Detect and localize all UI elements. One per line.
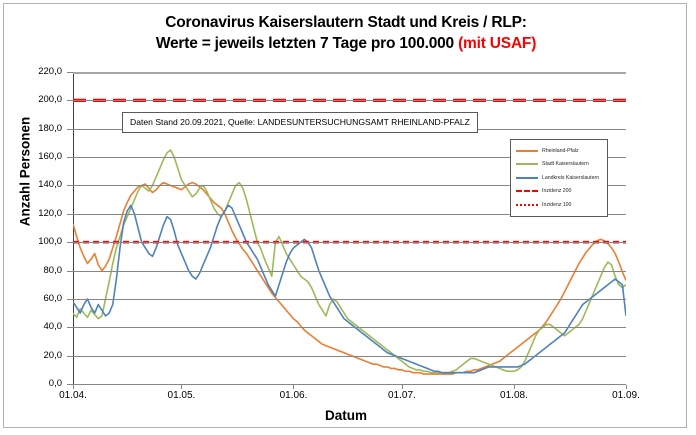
y-axis-tick-label: 0,0	[10, 378, 62, 389]
x-axis-tick-label: 01.08.	[484, 390, 544, 401]
gridline	[73, 271, 626, 272]
y-axis-tick-label: 140,0	[10, 179, 62, 190]
x-axis-tick	[514, 385, 515, 389]
gridline	[73, 327, 626, 328]
legend-swatch	[516, 190, 538, 192]
gridline	[73, 72, 626, 74]
x-axis-tick-label: 01.07.	[372, 390, 432, 401]
x-axis-tick	[402, 385, 403, 389]
x-axis-tick	[73, 385, 74, 389]
y-axis-tick	[67, 72, 73, 73]
y-axis-tick-label: 160,0	[10, 151, 62, 162]
legend-item[interactable]: Stadt Kaiserslautern	[514, 158, 604, 172]
gridline	[73, 242, 626, 243]
x-axis-tick	[626, 385, 627, 389]
legend-item[interactable]: Inzidenz 200	[514, 185, 604, 199]
x-axis-tick-label: 01.06.	[263, 390, 323, 401]
y-axis-tick-label: 100,0	[10, 236, 62, 247]
y-axis-tick-label: 200,0	[10, 94, 62, 105]
legend-swatch	[516, 204, 538, 206]
x-axis-tick-label: 01.05.	[151, 390, 211, 401]
legend-item[interactable]: Inzidenz 100	[514, 198, 604, 212]
legend-swatch	[516, 177, 538, 179]
legend-swatch	[516, 163, 538, 165]
y-axis-tick-label: 40,0	[10, 321, 62, 332]
x-axis-tick-label: 01.04.	[43, 390, 103, 401]
y-axis-tick	[67, 185, 73, 186]
legend-label: Inzidenz 100	[542, 202, 571, 208]
y-axis-tick	[67, 271, 73, 272]
chart-title-line1: Coronavirus Kaiserslautern Stadt und Kre…	[4, 13, 688, 33]
gridline	[73, 100, 626, 101]
y-axis-tick-label: 220,0	[10, 66, 62, 77]
x-axis-title: Datum	[4, 408, 688, 423]
gridline	[73, 356, 626, 357]
y-axis-tick	[67, 356, 73, 357]
legend-label: Inzidenz 200	[542, 188, 571, 194]
chart-title-line2-black: Werte = jeweils letzten 7 Tage pro 100.0…	[156, 35, 458, 52]
gridline	[73, 299, 626, 300]
series-line-landkreis-kaiserslautern	[73, 205, 626, 372]
x-axis-tick	[181, 385, 182, 389]
gridline	[73, 384, 626, 385]
legend-label: Rheinland-Pfalz	[542, 148, 579, 154]
y-axis-tick	[67, 214, 73, 215]
chart-title-line2: Werte = jeweils letzten 7 Tage pro 100.0…	[4, 34, 688, 54]
y-axis-tick	[67, 157, 73, 158]
y-axis-tick-label: 60,0	[10, 293, 62, 304]
y-axis-tick-label: 120,0	[10, 208, 62, 219]
y-axis-tick	[67, 299, 73, 300]
legend-label: Landkreis Kaiserslautern	[542, 175, 599, 181]
legend-label: Stadt Kaiserslautern	[542, 161, 589, 167]
legend-item[interactable]: Landkreis Kaiserslautern	[514, 171, 604, 185]
chart-title: Coronavirus Kaiserslautern Stadt und Kre…	[4, 13, 688, 54]
chart-legend: Rheinland-PfalzStadt KaiserslauternLandk…	[510, 139, 608, 217]
y-axis-tick	[67, 327, 73, 328]
y-axis-tick-label: 180,0	[10, 123, 62, 134]
y-axis-tick	[67, 242, 73, 243]
x-axis-tick-label: 01.09.	[596, 390, 656, 401]
legend-swatch	[516, 150, 538, 152]
data-source-annotation: Daten Stand 20.09.2021, Quelle: LANDESUN…	[122, 112, 478, 133]
y-axis-tick-label: 20,0	[10, 350, 62, 361]
y-axis-tick-label: 80,0	[10, 265, 62, 276]
chart-title-usaf-note: (mit USAF)	[458, 35, 536, 52]
y-axis-tick	[67, 129, 73, 130]
chart-frame: Coronavirus Kaiserslautern Stadt und Kre…	[3, 3, 687, 428]
x-axis-tick	[293, 385, 294, 389]
legend-item[interactable]: Rheinland-Pfalz	[514, 144, 604, 158]
y-axis-tick	[67, 100, 73, 101]
